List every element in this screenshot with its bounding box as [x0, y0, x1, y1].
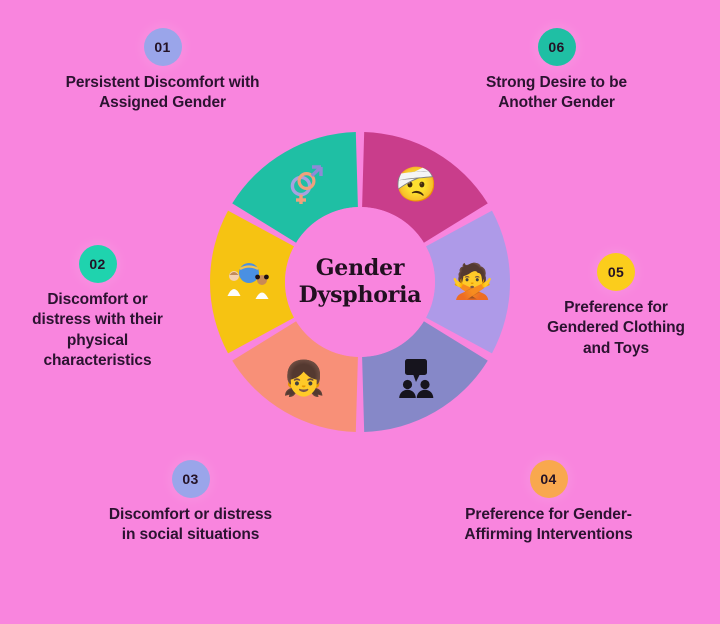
badge-04: 04	[530, 460, 568, 498]
callout-02[interactable]: 02 Discomfort or distress with their phy…	[0, 245, 205, 372]
callout-label-04: Preference for Gender- Affirming Interve…	[464, 505, 632, 546]
badge-03: 03	[172, 460, 210, 498]
badge-01: 01	[144, 28, 182, 66]
callout-06[interactable]: 06 Strong Desire to be Another Gender	[424, 28, 689, 114]
callout-label-02: Discomfort or distress with their physic…	[32, 290, 163, 372]
badge-02: 02	[79, 245, 117, 283]
callout-03[interactable]: 03 Discomfort or distress in social situ…	[58, 460, 323, 546]
page-title: GenderDysphoria	[293, 255, 428, 309]
center-title-line2: Dysphoria	[299, 282, 422, 308]
infographic-canvas: 🤕 🙅 👧	[0, 0, 720, 624]
callout-label-06: Strong Desire to be Another Gender	[486, 73, 627, 114]
callout-05[interactable]: 05 Preference for Gendered Clothing and …	[516, 253, 716, 359]
callout-04[interactable]: 04 Preference for Gender- Affirming Inte…	[406, 460, 691, 546]
donut-center-hub: GenderDysphoria	[285, 207, 435, 357]
callout-label-03: Discomfort or distress in social situati…	[109, 505, 272, 546]
callout-01[interactable]: 01 Persistent Discomfort with Assigned G…	[30, 28, 295, 114]
badge-06: 06	[538, 28, 576, 66]
center-title-line1: Gender	[316, 255, 405, 281]
callout-label-01: Persistent Discomfort with Assigned Gend…	[66, 73, 260, 114]
callout-label-05: Preference for Gendered Clothing and Toy…	[547, 298, 685, 359]
donut-chart: 🤕 🙅 👧	[207, 129, 513, 435]
badge-05: 05	[597, 253, 635, 291]
